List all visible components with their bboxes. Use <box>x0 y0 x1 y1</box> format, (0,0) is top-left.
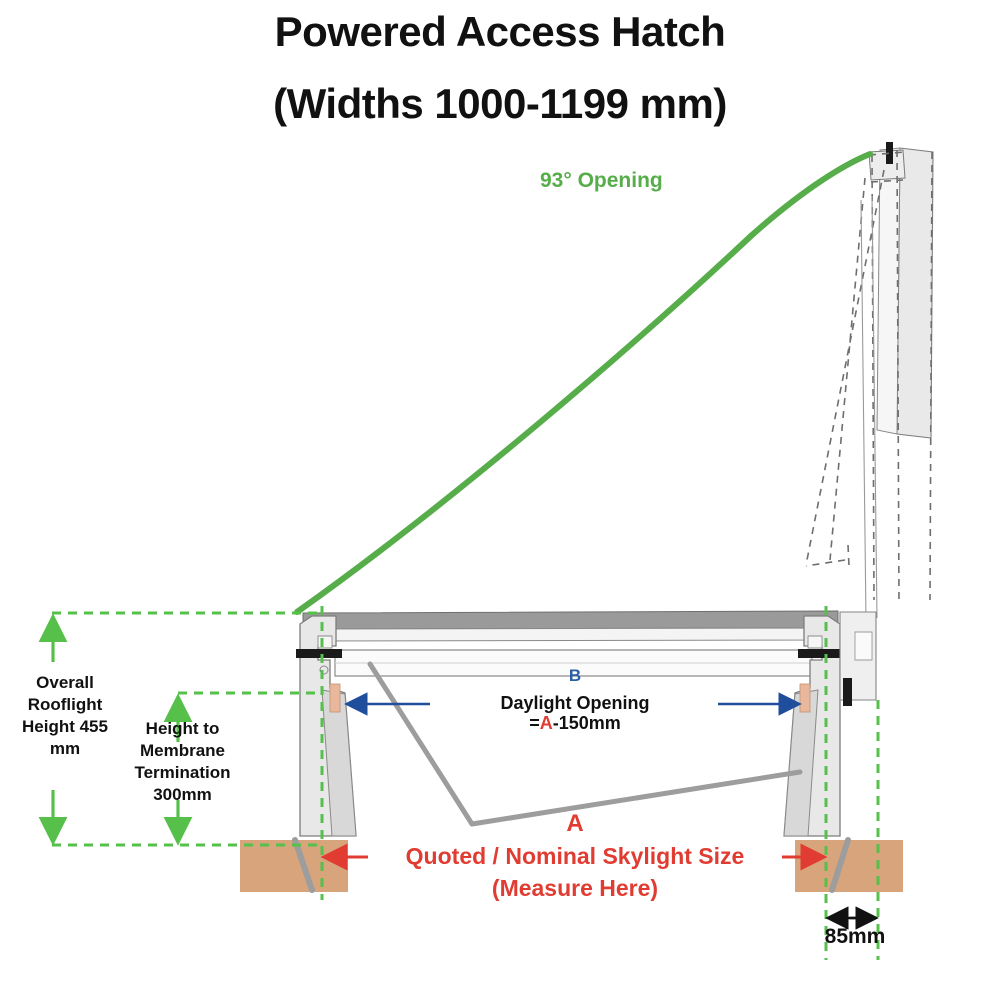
lid-frame-band <box>301 628 840 641</box>
left-profile-chamber <box>318 636 332 648</box>
membrane-termination-height-label: Height to Membrane Termination 300mm <box>120 718 245 806</box>
opened-lid-assembly <box>806 142 933 620</box>
right-profile-chamber <box>808 636 822 648</box>
dimension-a-letter: A <box>520 810 630 838</box>
hinge-pin <box>843 678 852 706</box>
left-upstand-profile <box>296 616 356 836</box>
daylight-opening-label: Daylight Opening <box>430 693 720 714</box>
right-upstand-profile <box>784 612 876 836</box>
quoted-nominal-size-label: Quoted / Nominal Skylight Size <box>330 843 820 870</box>
opened-lid-panel <box>897 148 933 438</box>
formula-prefix: = <box>529 713 540 733</box>
glazing-panel <box>303 611 838 629</box>
daylight-opening-formula: =A-150mm <box>430 713 720 734</box>
opening-arc-93-degrees <box>297 154 870 612</box>
right-fixing-bolt <box>798 649 844 658</box>
opening-angle-label: 93° Opening <box>540 169 663 193</box>
overall-rooflight-height-label: Overall Rooflight Height 455 mm <box>6 672 124 760</box>
lid-stay-arms <box>861 196 877 620</box>
interior-perspective-lines <box>370 664 800 824</box>
kerb-width-label: 85mm <box>790 925 920 949</box>
dimension-b-letter: B <box>520 666 630 686</box>
left-fixing-bolt <box>296 649 342 658</box>
measure-here-label: (Measure Here) <box>330 875 820 902</box>
diagram-canvas: Powered Access Hatch (Widths 1000-1199 m… <box>0 0 1000 1000</box>
left-gasket <box>330 684 340 712</box>
right-gasket <box>800 684 810 712</box>
formula-variable-a: A <box>540 713 553 733</box>
formula-suffix: -150mm <box>553 713 621 733</box>
hinge-inner-chamber <box>855 632 872 660</box>
